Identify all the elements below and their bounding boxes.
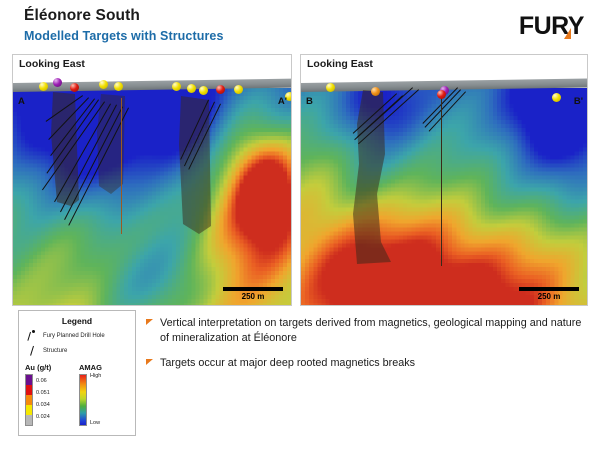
logo-text: FURY <box>519 12 584 40</box>
panel-b-left-label: B <box>306 96 313 107</box>
amag-colorbar <box>79 374 87 426</box>
legend-box: Legend Fury Planned Drill Hole Structure… <box>18 310 136 436</box>
drill-collar-marker <box>39 82 48 91</box>
logo-triangle-icon <box>564 28 571 39</box>
panel-b-scale-bar: 250 m <box>519 287 579 301</box>
slide: Éléonore South Modelled Targets with Str… <box>0 0 600 464</box>
au-colorbar <box>25 374 33 426</box>
panel-b-right-label: B' <box>574 96 583 107</box>
au-colorbar-caption: Au (g/t) <box>25 363 79 372</box>
drill-collar-marker <box>234 85 243 94</box>
drill-hole-trace <box>441 92 442 266</box>
panel-a-section: A A' 250 m <box>13 74 291 306</box>
amag-low-label: Low <box>90 421 101 427</box>
page-subtitle: Modelled Targets with Structures <box>24 29 224 43</box>
amag-colorbar-ticks: High Low <box>90 374 101 426</box>
bullet-item: Vertical interpretation on targets deriv… <box>146 316 586 345</box>
drill-collar-marker <box>371 87 380 96</box>
panel-b-section: B B' 250 m <box>301 74 587 306</box>
drill-collar-marker <box>99 80 108 89</box>
drill-collar-marker <box>53 78 62 87</box>
panel-b-magnetics-raster <box>301 88 587 306</box>
bullet-text: Targets occur at major deep rooted magne… <box>160 356 415 371</box>
drill-collar-marker <box>187 84 196 93</box>
au-tick: 0.06 <box>36 379 50 385</box>
drill-hole-icon <box>27 330 41 341</box>
amag-colorbar-block: AMAG High Low <box>79 363 133 426</box>
legend-colorbars: Au (g/t) 0.06 0.051 0.034 0.024 AMAG <box>25 363 135 426</box>
drill-collar-marker <box>70 83 79 92</box>
panel-a-left-label: A <box>18 96 25 107</box>
drill-collar-marker <box>199 86 208 95</box>
panel-b-view-label: Looking East <box>307 58 373 70</box>
au-tick: 0.034 <box>36 403 50 409</box>
bullet-marker-icon <box>146 359 153 365</box>
drill-collar-marker <box>326 83 335 92</box>
scale-bar-label: 250 m <box>223 292 283 301</box>
legend-title: Legend <box>19 316 135 326</box>
bullet-text: Vertical interpretation on targets deriv… <box>160 316 586 345</box>
amag-colorbar-caption: AMAG <box>79 363 133 372</box>
drill-hole-trace <box>121 98 122 234</box>
cross-section-panel-b: Looking East B B' 250 m <box>300 54 588 306</box>
panel-a-view-label: Looking East <box>19 58 85 70</box>
header: Éléonore South Modelled Targets with Str… <box>0 0 600 48</box>
scale-bar-line <box>519 287 579 291</box>
bullet-marker-icon <box>146 319 153 325</box>
legend-item-label: Fury Planned Drill Hole <box>43 333 105 339</box>
au-colorbar-block: Au (g/t) 0.06 0.051 0.034 0.024 <box>25 363 79 426</box>
structure-icon <box>27 345 41 356</box>
bullet-list: Vertical interpretation on targets deriv… <box>146 316 586 382</box>
amag-high-label: High <box>90 374 101 380</box>
legend-item-drill-hole: Fury Planned Drill Hole <box>27 330 135 341</box>
drill-collar-marker <box>552 93 561 102</box>
scale-bar-label: 250 m <box>519 292 579 301</box>
fury-logo: FURY <box>519 12 584 41</box>
panel-a-scale-bar: 250 m <box>223 287 283 301</box>
drill-collar-marker <box>437 90 446 99</box>
drill-collar-marker <box>216 85 225 94</box>
cross-section-panel-a: Looking East A A' 250 m <box>12 54 292 306</box>
legend-item-label: Structure <box>43 348 67 354</box>
bullet-item: Targets occur at major deep rooted magne… <box>146 356 586 371</box>
panel-a-right-label: A' <box>278 96 287 107</box>
drill-collar-marker <box>114 82 123 91</box>
au-tick: 0.051 <box>36 391 50 397</box>
scale-bar-line <box>223 287 283 291</box>
au-tick: 0.024 <box>36 415 50 421</box>
page-title: Éléonore South <box>24 7 140 25</box>
legend-item-structure: Structure <box>27 345 135 356</box>
au-colorbar-ticks: 0.06 0.051 0.034 0.024 <box>36 374 50 426</box>
drill-collar-marker <box>172 82 181 91</box>
